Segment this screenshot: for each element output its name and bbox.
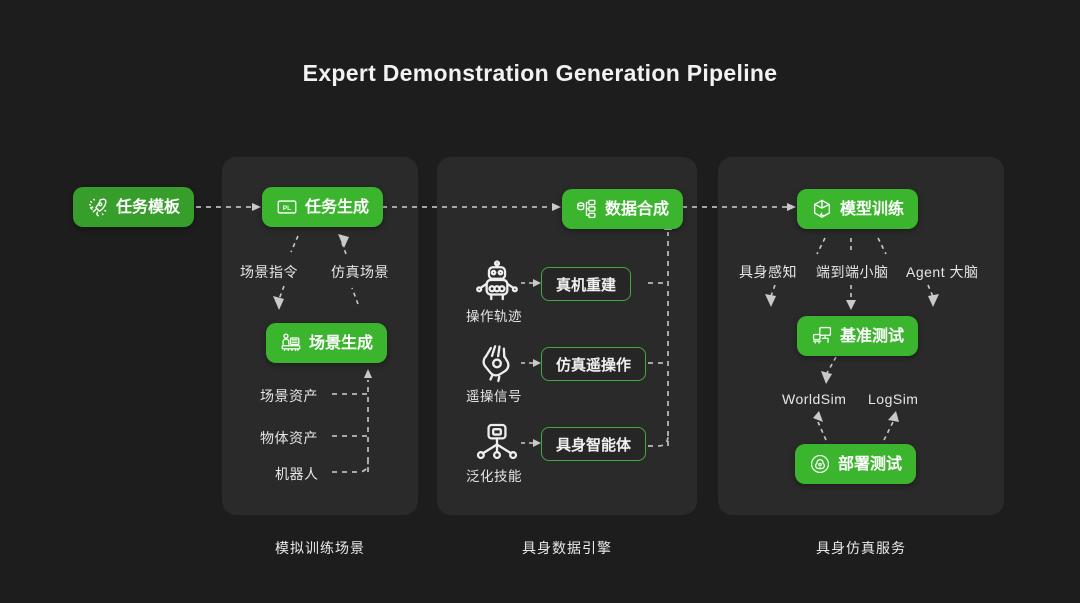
rocket-icon xyxy=(87,196,109,218)
edge-label-scene-instruction: 场景指令 xyxy=(240,262,298,282)
source-label-generalized-skill: 泛化技能 xyxy=(466,465,522,485)
deploy-cycle-icon xyxy=(809,453,831,475)
source-label-operation-trajectory: 操作轨迹 xyxy=(466,305,522,325)
page-title: Expert Demonstration Generation Pipeline xyxy=(0,60,1080,87)
node-data-synthesis[interactable]: 数据合成 xyxy=(562,189,683,229)
input-label-robot: 机器人 xyxy=(275,464,319,484)
node-scene-generation[interactable]: 场景生成 xyxy=(266,323,387,363)
panel-caption-embodied-simulation-service: 具身仿真服务 xyxy=(718,538,1004,558)
box-real-machine-reconstruction[interactable]: 真机重建 xyxy=(541,267,631,301)
edge-label-sim-scene: 仿真场景 xyxy=(331,262,389,282)
node-label: 部署测试 xyxy=(838,457,902,473)
node-task-template[interactable]: 任务模板 xyxy=(73,187,194,227)
box-label: 真机重建 xyxy=(556,274,616,295)
panel-caption-simulation-training-scene: 模拟训练场景 xyxy=(222,538,418,558)
worker-conveyor-icon xyxy=(280,332,302,354)
edge-label-embodied-perception: 具身感知 xyxy=(739,262,797,282)
frame-pl-icon: PL xyxy=(276,196,298,218)
node-label: 基准测试 xyxy=(840,329,904,345)
node-model-training[interactable]: 模型训练 xyxy=(797,189,918,229)
panel-caption-embodied-data-engine: 具身数据引擎 xyxy=(437,538,697,558)
robot-icon xyxy=(474,260,520,306)
input-label-object-assets: 物体资产 xyxy=(260,428,318,448)
node-label: 任务模板 xyxy=(116,200,180,216)
edge-label-logsim: LogSim xyxy=(868,391,918,407)
box-label: 具身智能体 xyxy=(556,434,631,455)
edge-label-agent-brain: Agent 大脑 xyxy=(906,262,978,282)
data-flow-icon xyxy=(576,198,598,220)
node-label: 任务生成 xyxy=(305,200,369,216)
edge-label-worldsim: WorldSim xyxy=(782,391,846,407)
node-label: 场景生成 xyxy=(309,336,373,352)
benchmark-screen-icon xyxy=(811,325,833,347)
input-label-scene-assets: 场景资产 xyxy=(260,386,318,406)
svg-text:PL: PL xyxy=(283,205,291,212)
node-task-generation[interactable]: PL 任务生成 xyxy=(262,187,383,227)
box-simulated-teleoperation[interactable]: 仿真遥操作 xyxy=(541,347,646,381)
node-benchmark-test[interactable]: 基准测试 xyxy=(797,316,918,356)
node-label: 数据合成 xyxy=(605,202,669,218)
glove-icon xyxy=(474,340,520,386)
diagram-canvas: Expert Demonstration Generation Pipeline xyxy=(0,0,1080,603)
edge-label-end-to-end-cerebellum: 端到端小脑 xyxy=(816,262,889,282)
node-deployment-test[interactable]: 部署测试 xyxy=(795,444,916,484)
cube-refresh-icon xyxy=(811,198,833,220)
box-label: 仿真遥操作 xyxy=(556,354,631,375)
agent-network-icon xyxy=(474,420,520,466)
node-label: 模型训练 xyxy=(840,202,904,218)
source-label-teleop-signal: 遥操信号 xyxy=(466,385,522,405)
box-embodied-agent[interactable]: 具身智能体 xyxy=(541,427,646,461)
